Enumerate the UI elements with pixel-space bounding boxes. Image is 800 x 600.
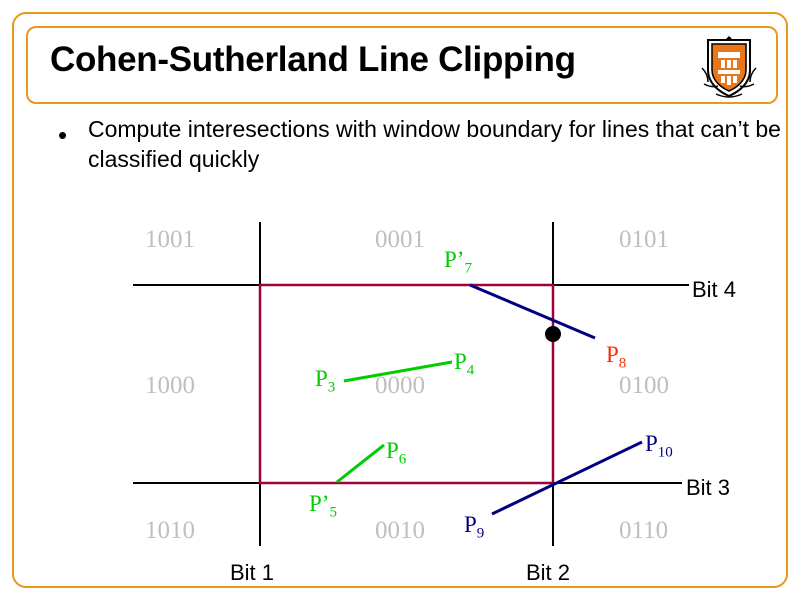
princeton-shield-crest <box>696 34 762 100</box>
code-top-center: 0001 <box>375 226 425 254</box>
bullet-marker: • <box>58 122 67 148</box>
diagram-labels: 100100010101100000000100101000100110Bit … <box>14 194 790 590</box>
page-title: Cohen-Sutherland Line Clipping <box>50 40 576 80</box>
bit-1-label: Bit 1 <box>230 560 274 586</box>
code-top-right: 0101 <box>619 226 669 254</box>
code-bottom-center: 0010 <box>375 517 425 545</box>
point-p6: P6 <box>386 438 406 469</box>
bit-3-label: Bit 3 <box>686 475 730 501</box>
cohen-sutherland-diagram: 100100010101100000000100101000100110Bit … <box>14 194 790 590</box>
code-middle-left: 1000 <box>145 372 195 400</box>
code-middle-center: 0000 <box>375 372 425 400</box>
point-p3: P3 <box>315 366 335 397</box>
point-p5-prime: P’5 <box>309 491 337 522</box>
point-p9: P9 <box>464 512 484 543</box>
point-p10: P10 <box>645 431 673 462</box>
bullet-text: Compute interesections with window bound… <box>88 114 788 174</box>
point-p8: P8 <box>606 342 626 373</box>
slide-frame: Cohen-Sutherland Line Clipping • Compute… <box>12 12 788 588</box>
code-bottom-left: 1010 <box>145 517 195 545</box>
point-p7-prime: P’7 <box>444 247 472 278</box>
code-top-left: 1001 <box>145 226 195 254</box>
title-bar: Cohen-Sutherland Line Clipping <box>26 26 778 104</box>
bit-4-label: Bit 4 <box>692 277 736 303</box>
code-bottom-right: 0110 <box>619 517 668 545</box>
code-middle-right: 0100 <box>619 372 669 400</box>
point-p4: P4 <box>454 349 474 380</box>
bit-2-label: Bit 2 <box>526 560 570 586</box>
